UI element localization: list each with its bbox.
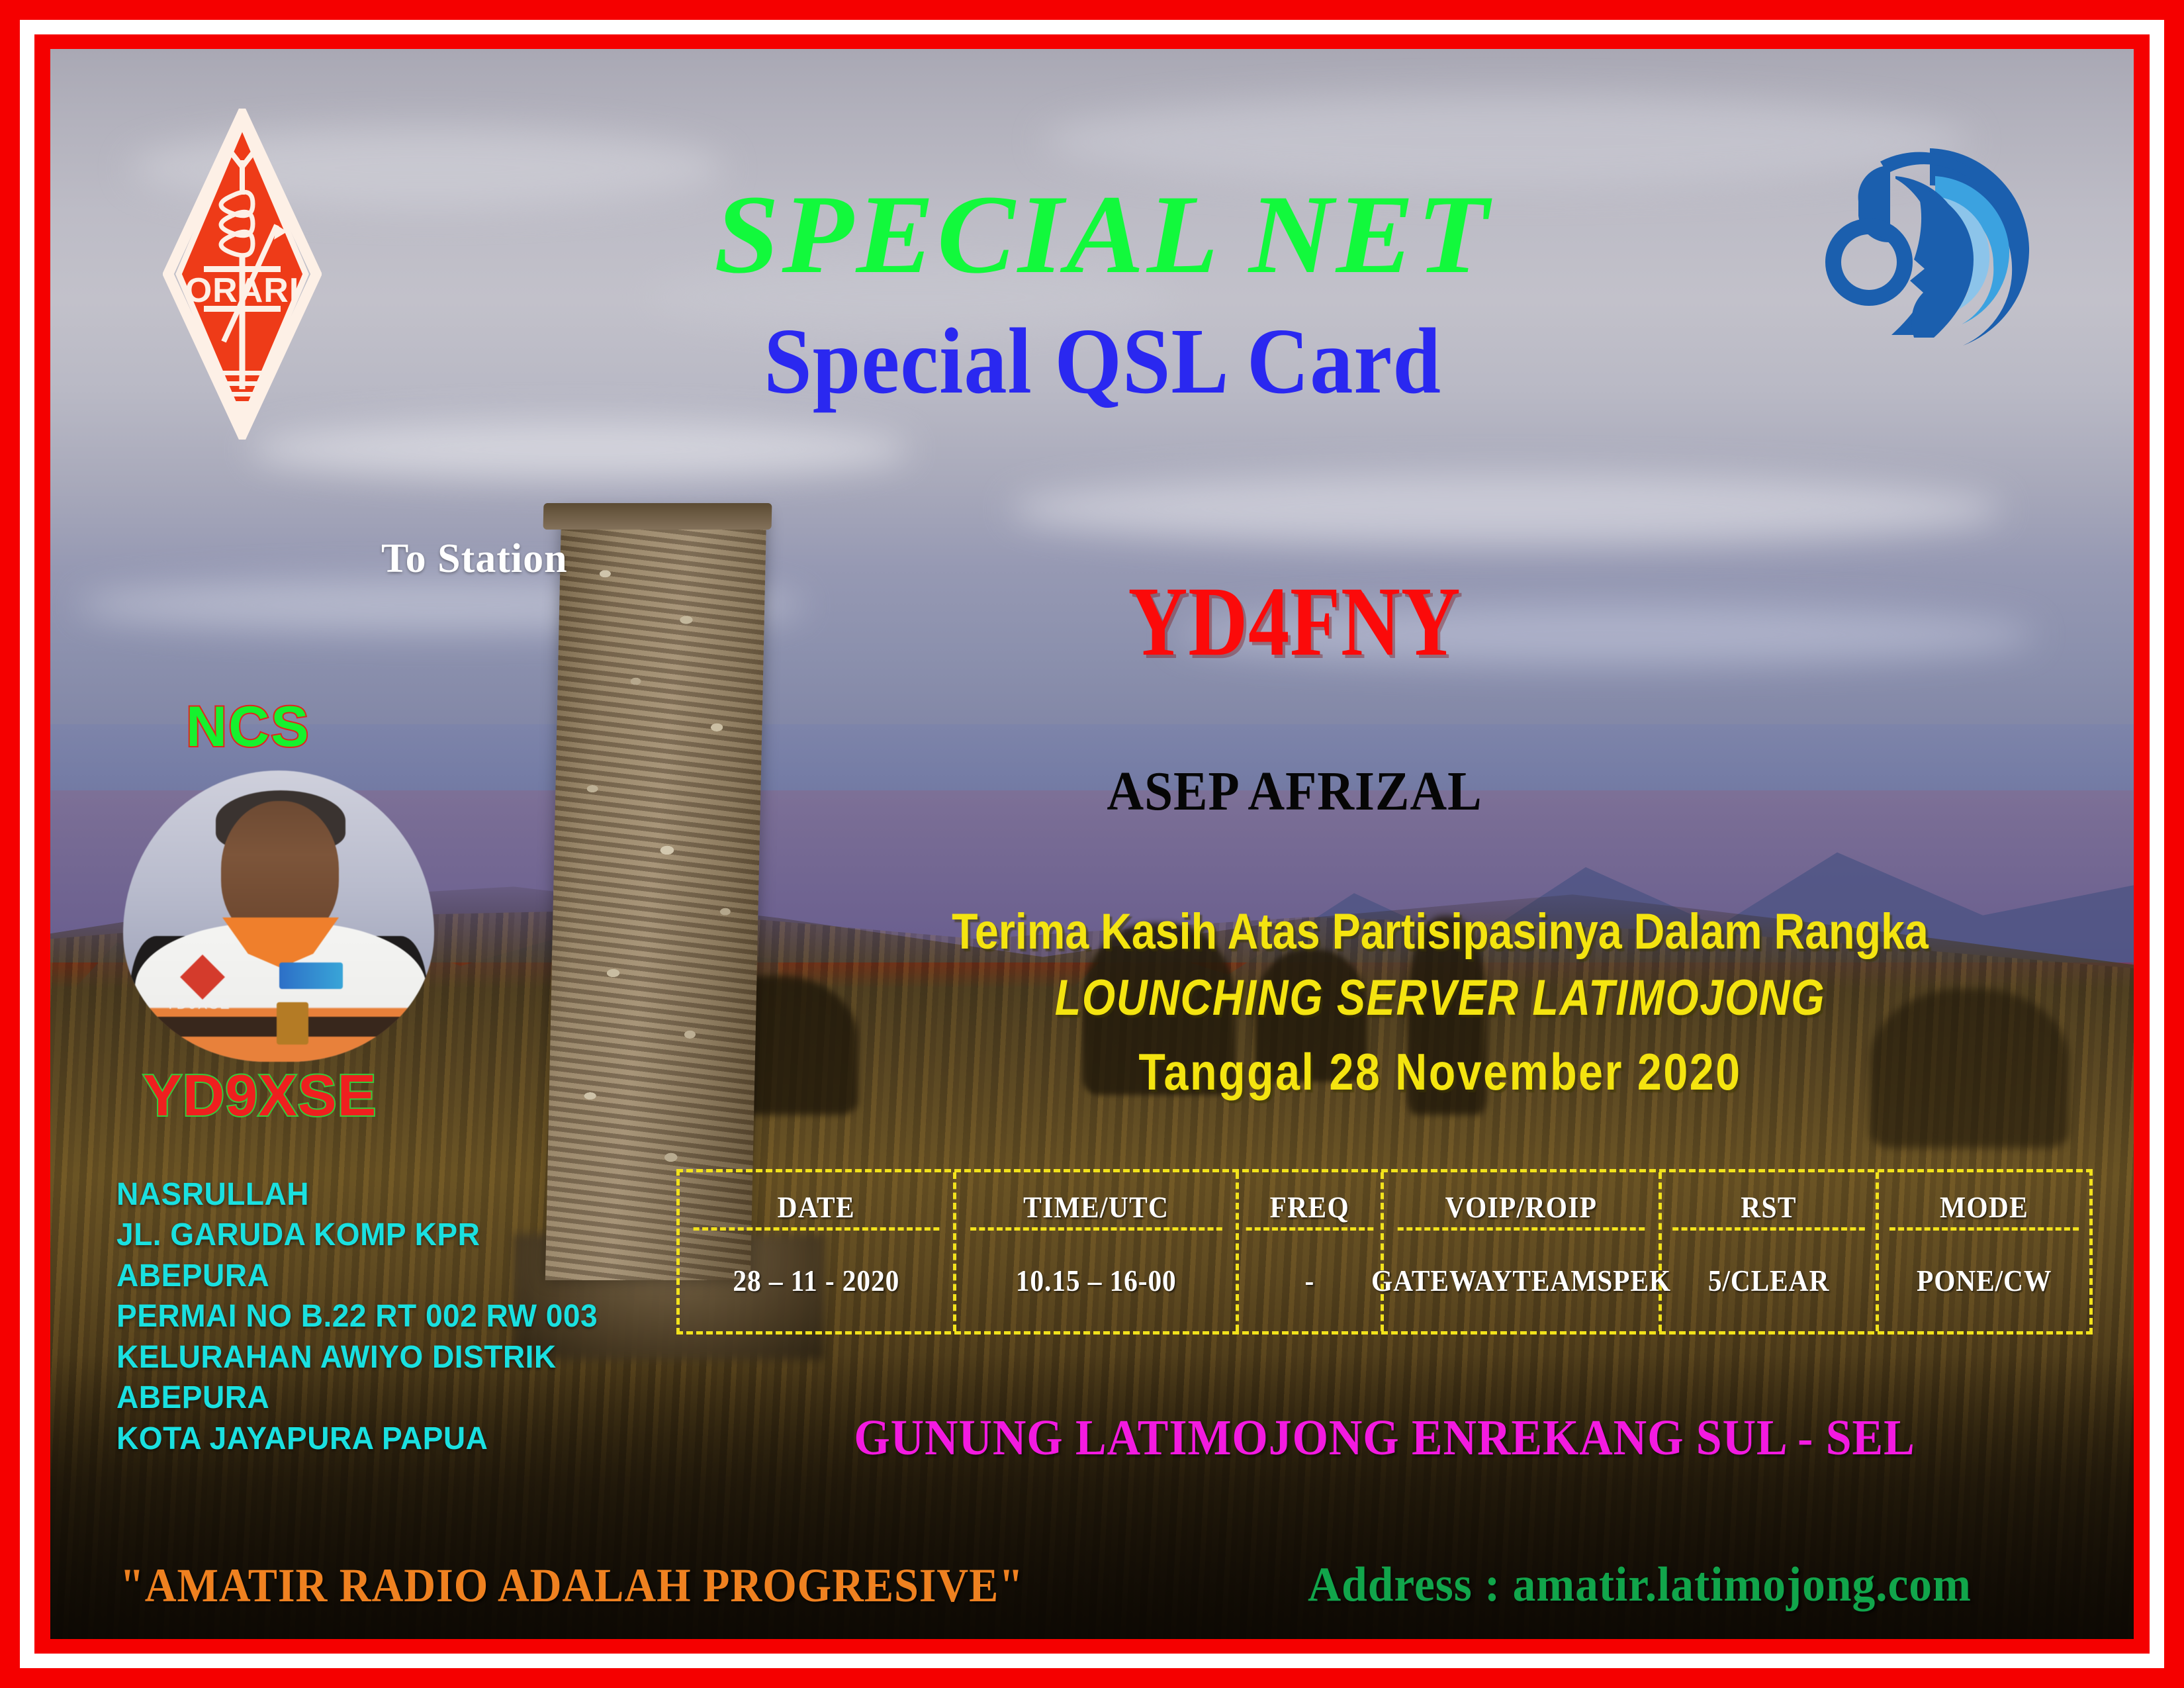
column-header-rst: RST xyxy=(1672,1172,1865,1231)
headset-profile-logo-icon xyxy=(1817,122,2069,373)
photo-id-badge xyxy=(277,1002,308,1045)
table-cell-time: 10.15 – 16-00 xyxy=(970,1231,1222,1331)
address-line: NASRULLAH xyxy=(116,1174,676,1215)
table-column-freq: FREQ - xyxy=(1239,1172,1384,1331)
column-header-freq: FREQ xyxy=(1246,1172,1373,1231)
to-station-label: To Station xyxy=(381,536,568,583)
card-content-overlay: ORARI SPECIAL NET Special QSL Card xyxy=(50,49,2134,1639)
address-line: JL. GARUDA KOMP KPR xyxy=(116,1215,676,1255)
event-thanks-line: Terima Kasih Atas Partisipasinya Dalam R… xyxy=(884,903,1997,961)
ncs-address-block: NASRULLAH JL. GARUDA KOMP KPR ABEPURA PE… xyxy=(116,1174,676,1459)
photo-chest-logo xyxy=(279,962,343,989)
table-cell-freq: - xyxy=(1246,1231,1373,1331)
table-cell-mode: PONE/CW xyxy=(1889,1231,2079,1331)
event-title-line: LOUNCHING SERVER LATIMOJONG xyxy=(884,969,1997,1027)
orari-logo: ORARI xyxy=(163,109,322,440)
address-line: PERMAI NO B.22 RT 002 RW 003 xyxy=(116,1296,676,1336)
event-location: GUNUNG LATIMOJONG ENREKANG SUL - SEL xyxy=(733,1409,2036,1467)
footer-slogan: "AMATIR RADIO ADALAH PROGRESIVE" xyxy=(120,1558,1024,1613)
footer-web-address: Address : amatir.latimojong.com xyxy=(1308,1557,1972,1613)
table-cell-voip: GATEWAYTEAMSPEK xyxy=(1398,1231,1645,1331)
page-title: SPECIAL NET xyxy=(449,178,1756,291)
event-date-line: Tanggal 28 November 2020 xyxy=(884,1042,1997,1102)
station-operator-name: ASEP AFRIZAL xyxy=(990,764,1599,820)
photo-shirt-callsign: YD9XSE xyxy=(165,996,231,1013)
table-cell-rst: 5/CLEAR xyxy=(1672,1231,1865,1331)
address-line: ABEPURA xyxy=(116,1256,676,1296)
column-header-time: TIME/UTC xyxy=(970,1172,1222,1231)
table-column-voip: VOIP/ROIP GATEWAYTEAMSPEK xyxy=(1384,1172,1662,1331)
qsl-card: ORARI SPECIAL NET Special QSL Card xyxy=(0,0,2184,1688)
table-column-date: DATE 28 – 11 - 2020 xyxy=(680,1172,956,1331)
table-column-rst: RST 5/CLEAR xyxy=(1662,1172,1879,1331)
table-column-time: TIME/UTC 10.15 – 16-00 xyxy=(956,1172,1240,1331)
address-line: KELURAHAN AWIYO DISTRIK xyxy=(116,1337,676,1378)
table-column-mode: MODE PONE/CW xyxy=(1879,1172,2089,1331)
column-header-voip: VOIP/ROIP xyxy=(1398,1172,1645,1231)
column-header-date: DATE xyxy=(694,1172,939,1231)
svg-text:ORARI: ORARI xyxy=(185,271,300,310)
station-callsign: YD4FNY xyxy=(1020,572,1569,671)
column-header-mode: MODE xyxy=(1889,1172,2079,1231)
address-line: ABEPURA xyxy=(116,1378,676,1418)
address-line: KOTA JAYAPURA PAPUA xyxy=(116,1419,676,1459)
ncs-callsign: YD9XSE xyxy=(143,1062,377,1129)
ncs-operator-photo: YD9XSE xyxy=(123,771,434,1062)
table-cell-date: 28 – 11 - 2020 xyxy=(694,1231,939,1331)
page-subtitle: Special QSL Card xyxy=(524,314,1681,408)
qso-log-table: DATE 28 – 11 - 2020 TIME/UTC 10.15 – 16-… xyxy=(676,1169,2093,1335)
ncs-role-label: NCS xyxy=(186,694,310,760)
